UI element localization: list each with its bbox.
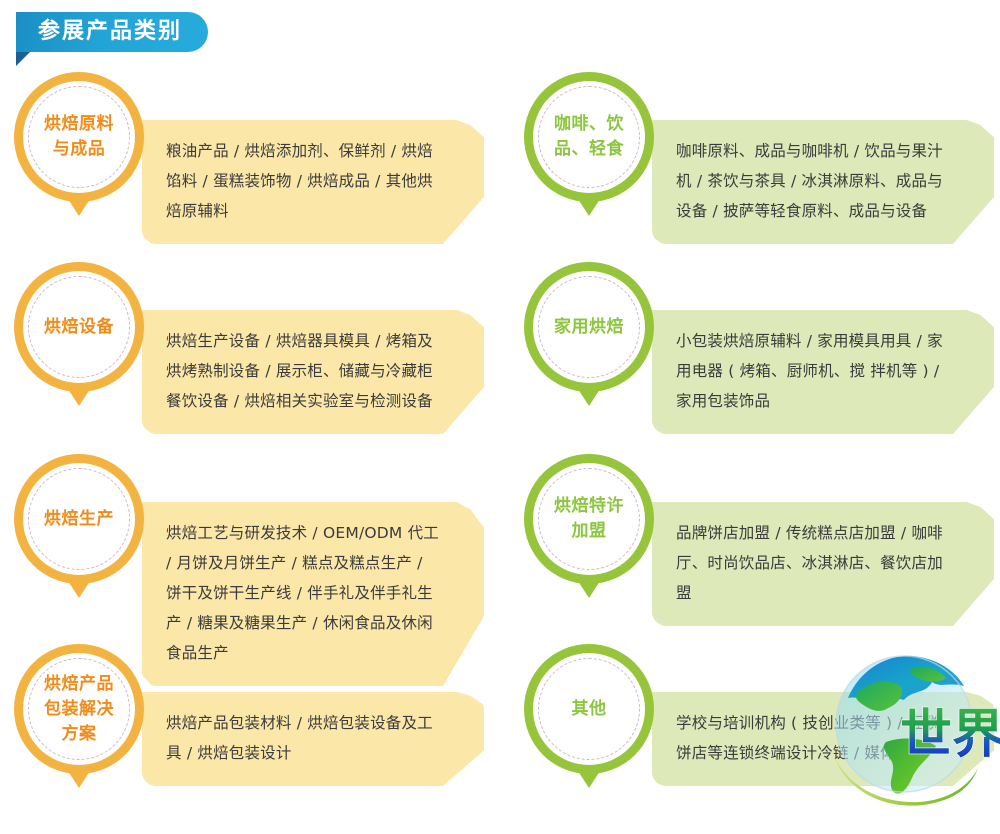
header-banner: 参展产品类别 xyxy=(16,12,208,52)
category-title-text: 家用烘焙 xyxy=(554,315,624,340)
page-header: 参展产品类别 xyxy=(16,12,208,52)
category-description-panel: 咖啡原料、成品与咖啡机 / 饮品与果汁机 / 茶饮与茶具 / 冰淇淋原料、成品与… xyxy=(652,120,994,244)
category-description-panel: 品牌饼店加盟 / 传统糕点店加盟 / 咖啡厅、时尚饮品店、冰淇淋店、餐饮店加盟 xyxy=(652,502,994,626)
page-title: 参展产品类别 xyxy=(38,21,182,43)
category-description: 学校与培训机构 ( 技创业类等 ) / 互联饼店等连锁终端设计冷链 / 媒体 xyxy=(676,708,950,768)
category-pin-marker[interactable]: 烘焙特许 加盟 xyxy=(524,454,654,584)
category-description: 烘焙生产设备 / 烘焙器具模具 / 烤箱及烘烤熟制设备 / 展示柜、储藏与冷藏柜… xyxy=(166,326,440,416)
category-description-panel: 烘焙产品包装材料 / 烘焙包装设备及工具 / 烘焙包装设计 xyxy=(142,692,484,786)
category-title-text: 其他 xyxy=(572,697,607,722)
category-title-text: 烘焙生产 xyxy=(44,507,114,532)
category-description: 粮油产品 / 烘焙添加剂、保鲜剂 / 烘焙馅料 / 蛋糕装饰物 / 烘焙成品 /… xyxy=(166,136,440,226)
category-title: 烘焙特许 加盟 xyxy=(536,454,642,584)
category-pin-marker[interactable]: 家用烘焙 xyxy=(524,262,654,392)
category-description-panel: 烘焙生产设备 / 烘焙器具模具 / 烤箱及烘烤熟制设备 / 展示柜、储藏与冷藏柜… xyxy=(142,310,484,434)
category-description: 小包装烘焙原辅料 / 家用模具用具 / 家用电器 ( 烤箱、厨师机、搅 拌机等 … xyxy=(676,326,950,416)
category-title: 烘焙设备 xyxy=(26,262,132,392)
category-title: 家用烘焙 xyxy=(536,262,642,392)
category-pin-marker[interactable]: 咖啡、饮 品、轻食 xyxy=(524,72,654,202)
category-description: 咖啡原料、成品与咖啡机 / 饮品与果汁机 / 茶饮与茶具 / 冰淇淋原料、成品与… xyxy=(676,136,950,226)
category-title: 烘焙生产 xyxy=(26,454,132,584)
category-pin-marker[interactable]: 烘焙原料 与成品 xyxy=(14,72,144,202)
category-pin-marker[interactable]: 烘焙产品 包装解决 方案 xyxy=(14,644,144,774)
category-pin-marker[interactable]: 烘焙生产 xyxy=(14,454,144,584)
category-title-text: 烘焙产品 包装解决 方案 xyxy=(44,672,114,747)
category-pin-marker[interactable]: 其他 xyxy=(524,644,654,774)
category-title: 其他 xyxy=(536,644,642,774)
category-row: 烘焙产品包装材料 / 烘焙包装设备及工具 / 烘焙包装设计烘焙产品 包装解决 方… xyxy=(0,644,1000,834)
category-title: 烘焙原料 与成品 xyxy=(26,72,132,202)
category-title-text: 咖啡、饮 品、轻食 xyxy=(554,112,624,162)
banner-tail-triangle xyxy=(16,52,30,66)
category-description-panel: 粮油产品 / 烘焙添加剂、保鲜剂 / 烘焙馅料 / 蛋糕装饰物 / 烘焙成品 /… xyxy=(142,120,484,244)
category-title: 烘焙产品 包装解决 方案 xyxy=(26,644,132,774)
category-title-text: 烘焙设备 xyxy=(44,315,114,340)
category-row: 烘焙生产设备 / 烘焙器具模具 / 烤箱及烘烤熟制设备 / 展示柜、储藏与冷藏柜… xyxy=(0,262,1000,452)
category-description-panel: 小包装烘焙原辅料 / 家用模具用具 / 家用电器 ( 烤箱、厨师机、搅 拌机等 … xyxy=(652,310,994,434)
category-title-text: 烘焙原料 与成品 xyxy=(44,112,114,162)
category-title: 咖啡、饮 品、轻食 xyxy=(536,72,642,202)
category-description: 烘焙产品包装材料 / 烘焙包装设备及工具 / 烘焙包装设计 xyxy=(166,708,440,768)
category-pin-marker[interactable]: 烘焙设备 xyxy=(14,262,144,392)
category-title-text: 烘焙特许 加盟 xyxy=(554,494,624,544)
category-description: 品牌饼店加盟 / 传统糕点店加盟 / 咖啡厅、时尚饮品店、冰淇淋店、餐饮店加盟 xyxy=(676,518,950,608)
category-description-panel: 学校与培训机构 ( 技创业类等 ) / 互联饼店等连锁终端设计冷链 / 媒体 xyxy=(652,692,994,786)
category-row: 粮油产品 / 烘焙添加剂、保鲜剂 / 烘焙馅料 / 蛋糕装饰物 / 烘焙成品 /… xyxy=(0,72,1000,262)
category-row: 烘焙工艺与研发技术 / OEM/ODM 代工 / 月饼及月饼生产 / 糕点及糕点… xyxy=(0,454,1000,644)
